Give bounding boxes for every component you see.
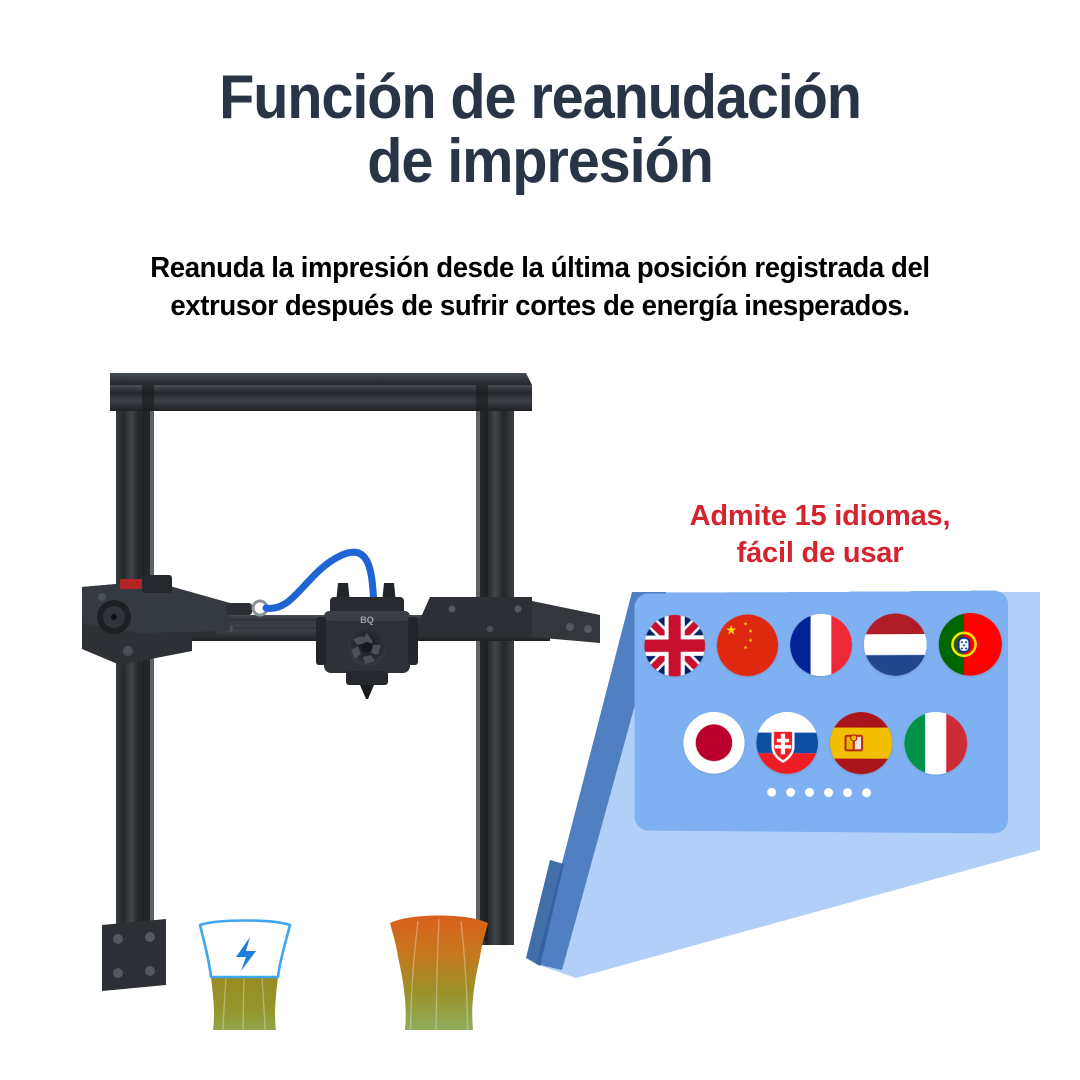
- flag-united-kingdom[interactable]: [644, 615, 705, 677]
- page-subtitle: Reanuda la impresión desde la última pos…: [103, 250, 977, 325]
- print-head: BQ: [316, 583, 418, 699]
- language-callout-text: Admite 15 idiomas, fácil de usar: [620, 498, 1020, 572]
- pagination-dot[interactable]: [767, 788, 776, 797]
- flag-japan[interactable]: [683, 712, 744, 774]
- pagination-dot[interactable]: [843, 788, 852, 797]
- page-title: Función de reanudación de impresión: [38, 66, 1042, 195]
- printed-models: [198, 916, 488, 1031]
- svg-text:BQ: BQ: [360, 615, 374, 625]
- flag-row-1: [644, 613, 1002, 677]
- flag-slovakia[interactable]: [756, 712, 818, 774]
- z-column-bracket: [102, 919, 166, 991]
- flag-italy[interactable]: [904, 712, 967, 775]
- flag-netherlands[interactable]: [864, 613, 927, 676]
- flag-china[interactable]: [717, 614, 778, 676]
- pagination-dots[interactable]: [635, 787, 1008, 798]
- poster-canvas: Función de reanudación de impresión Rean…: [0, 0, 1080, 1080]
- pagination-dot[interactable]: [786, 788, 795, 797]
- flag-spain[interactable]: [830, 712, 892, 774]
- pagination-dot[interactable]: [824, 788, 833, 797]
- flag-row-2: [683, 712, 967, 775]
- flag-portugal[interactable]: [939, 613, 1002, 676]
- language-flag-panel[interactable]: [635, 590, 1008, 833]
- pagination-dot[interactable]: [862, 788, 871, 797]
- pagination-dot[interactable]: [805, 788, 814, 797]
- flag-france[interactable]: [790, 614, 852, 676]
